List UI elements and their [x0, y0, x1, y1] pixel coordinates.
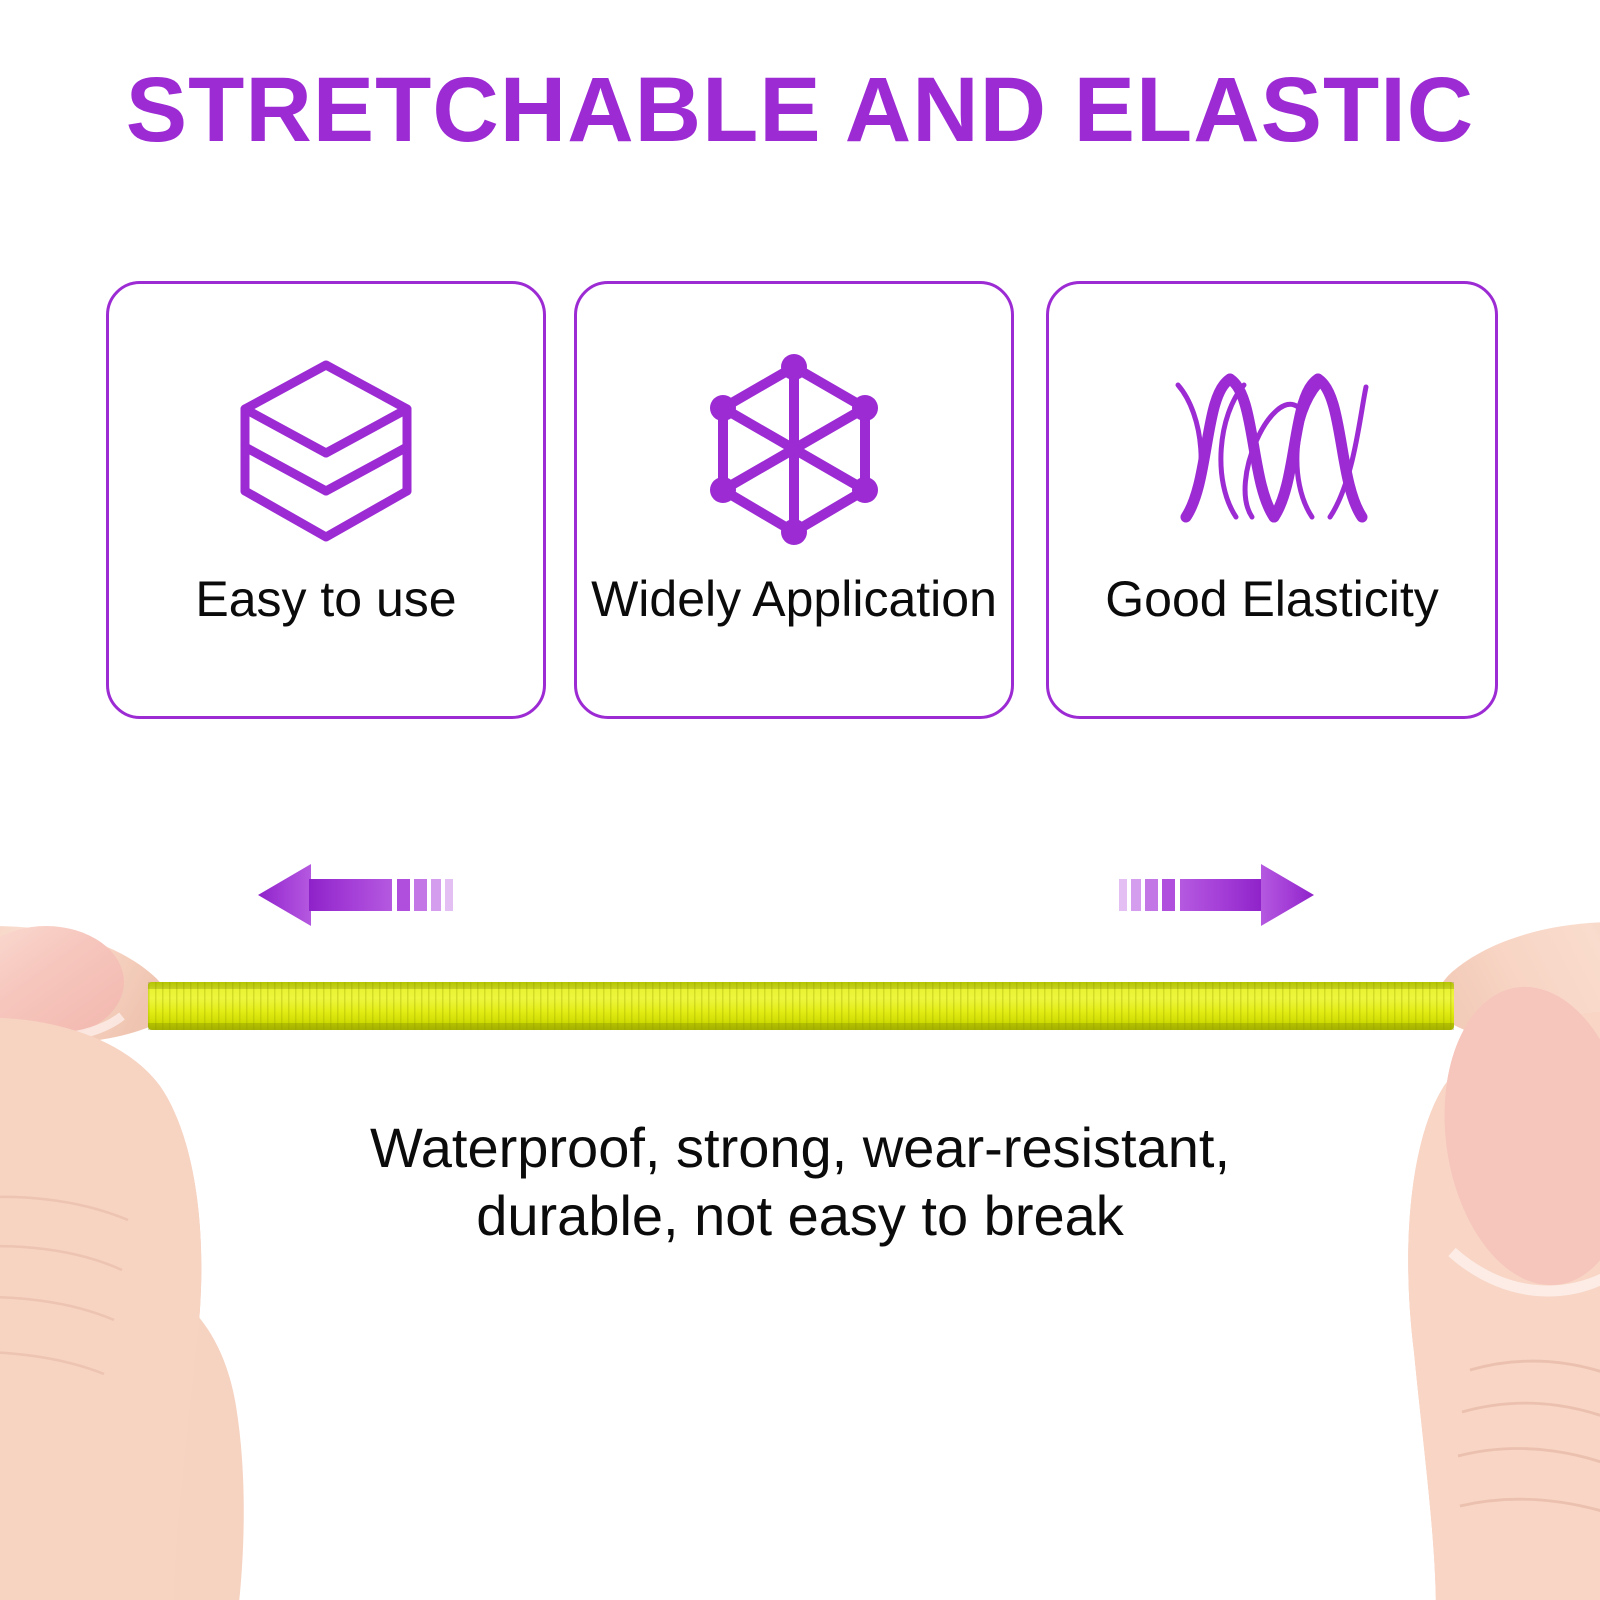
feature-card-label: Widely Application — [537, 570, 1051, 628]
feature-card-label: Easy to use — [69, 570, 583, 628]
feature-card-label: Good Elasticity — [1009, 570, 1535, 628]
page-title: STRETCHABLE AND ELASTIC — [0, 62, 1600, 159]
product-infographic: STRETCHABLE AND ELASTIC — [0, 0, 1600, 1600]
hexagon-network-nodes-icon — [577, 346, 1011, 556]
product-caption: Waterproof, strong, wear-resistant, dura… — [300, 1114, 1300, 1251]
yellow-elastic-cord — [148, 982, 1454, 1030]
caption-line-1: Waterproof, strong, wear-resistant, — [300, 1114, 1300, 1182]
feature-card-widely-application: Widely Application — [574, 281, 1014, 719]
feature-card-row: Easy to use — [106, 281, 1498, 719]
stacked-layers-hexagon-icon — [109, 346, 543, 556]
caption-line-2: durable, not easy to break — [300, 1182, 1300, 1250]
feature-card-good-elasticity: Good Elasticity — [1046, 281, 1498, 719]
coil-spring-icon — [1049, 346, 1495, 556]
feature-card-easy-to-use: Easy to use — [106, 281, 546, 719]
